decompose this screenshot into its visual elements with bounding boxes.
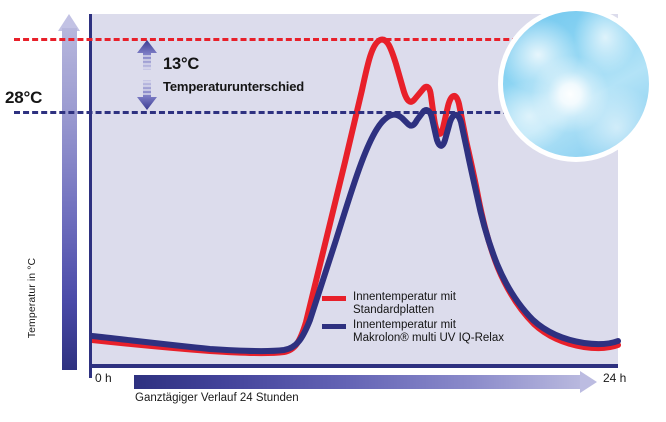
time-gradient-bar: [134, 375, 580, 389]
legend-item-makrolon: Innentemperatur mit Makrolon® multi UV I…: [322, 319, 504, 344]
x-axis-end-label: 24 h: [603, 371, 626, 385]
x-axis-line: [89, 364, 618, 368]
x-axis-caption: Ganztägiger Verlauf 24 Stunden: [135, 392, 299, 404]
chart-canvas: Temperatur in °C Ganztägiger Verlauf 24 …: [0, 0, 666, 422]
legend-item-standardplatten: Innentemperatur mit Standardplatten: [322, 291, 504, 316]
legend-label-makrolon: Innentemperatur mit Makrolon® multi UV I…: [353, 319, 504, 344]
double-arrow-vertical-icon: [136, 40, 158, 110]
sun-sky-circle-icon: [498, 6, 654, 162]
time-gradient-arrow-icon: [580, 371, 597, 393]
x-axis-start-label: 0 h: [95, 371, 112, 385]
difference-description-label: Temperaturunterschied: [163, 79, 304, 94]
legend-label-line2: Makrolon® multi UV IQ-Relax: [353, 332, 504, 345]
chart-legend: Innentemperatur mit Standardplatten Inne…: [322, 291, 504, 347]
reference-label-28c: 28°C: [5, 88, 42, 108]
legend-swatch-blue: [322, 324, 346, 329]
legend-label-line2: Standardplatten: [353, 304, 456, 317]
temperature-gradient-bar: [62, 28, 77, 370]
legend-swatch-red: [322, 296, 346, 301]
legend-label-line1: Innentemperatur mit: [353, 291, 456, 304]
legend-label-line1: Innentemperatur mit: [353, 319, 504, 332]
y-axis-title: Temperatur in °C: [26, 243, 38, 353]
y-axis-line: [89, 14, 92, 369]
x-axis-origin-tick: [89, 364, 92, 378]
legend-label-standardplatten: Innentemperatur mit Standardplatten: [353, 291, 456, 316]
difference-value-label: 13°C: [163, 55, 199, 74]
